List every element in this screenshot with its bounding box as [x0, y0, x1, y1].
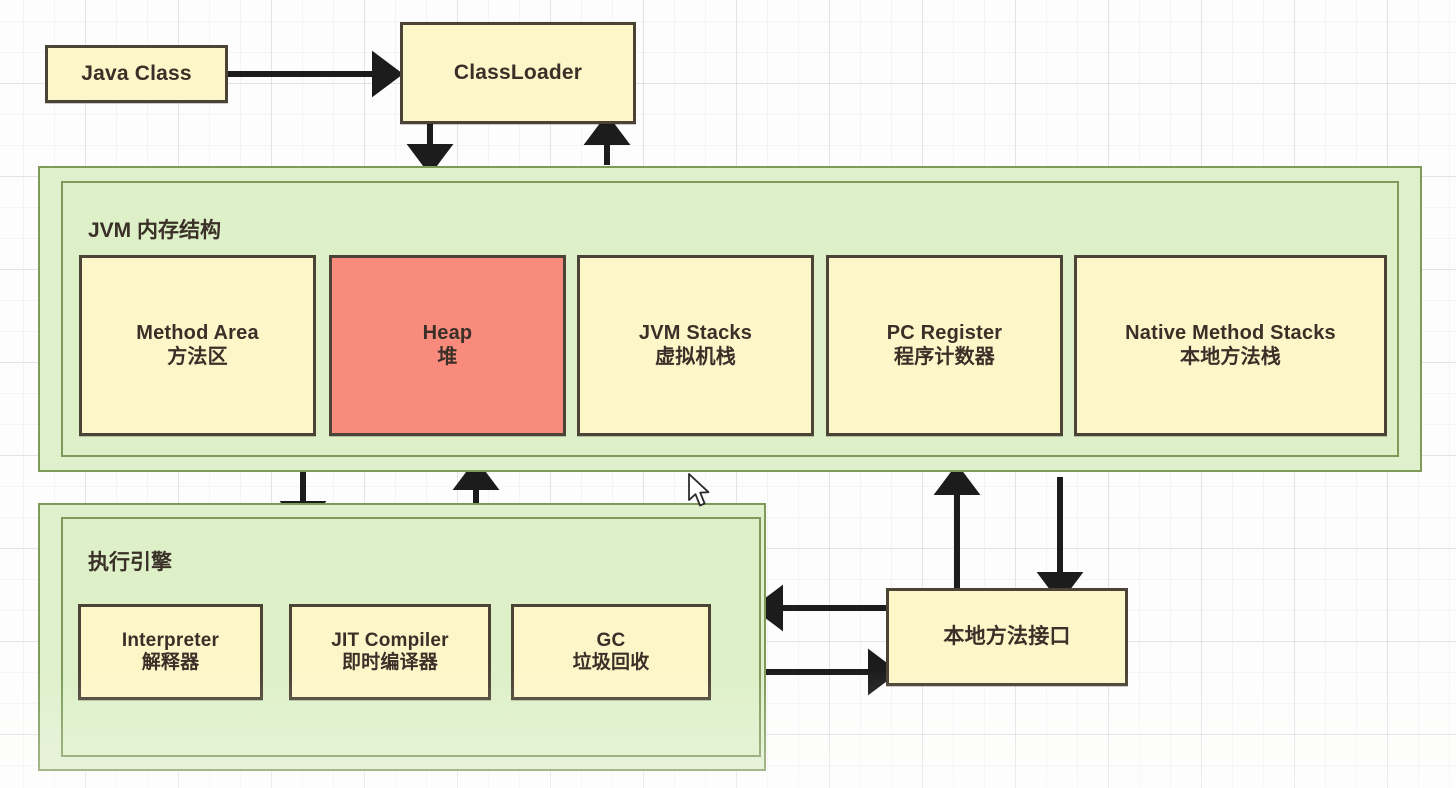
memory-box-jvm-stacks[interactable]: JVM Stacks 虚拟机栈: [577, 255, 814, 436]
gc-en: GC: [597, 630, 626, 652]
pc-register-cn: 程序计数器: [894, 345, 995, 369]
engine-box-gc[interactable]: GC 垃圾回收: [511, 604, 711, 700]
gc-cn: 垃圾回收: [573, 652, 650, 675]
heap-cn: 堆: [437, 345, 457, 369]
jit-compiler-cn: 即时编译器: [342, 652, 438, 675]
memory-box-pc-register[interactable]: PC Register 程序计数器: [826, 255, 1063, 436]
interpreter-cn: 解释器: [142, 652, 200, 675]
jvm-memory-title: JVM 内存结构: [88, 214, 221, 244]
jvm-stacks-en: JVM Stacks: [639, 322, 752, 345]
native-method-stacks-cn: 本地方法栈: [1180, 345, 1281, 369]
pc-register-en: PC Register: [887, 322, 1003, 345]
method-area-en: Method Area: [136, 322, 259, 345]
execution-engine-title: 执行引擎: [88, 546, 172, 576]
engine-box-interpreter[interactable]: Interpreter 解释器: [78, 604, 263, 700]
interpreter-en: Interpreter: [122, 630, 219, 652]
memory-box-native-method-stacks[interactable]: Native Method Stacks 本地方法栈: [1074, 255, 1387, 436]
jvm-architecture-diagram: Java Class ClassLoader JVM 内存结构 Method A…: [0, 0, 1456, 788]
memory-box-method-area[interactable]: Method Area 方法区: [79, 255, 316, 436]
jvm-stacks-cn: 虚拟机栈: [655, 345, 736, 369]
native-method-interface-label: 本地方法接口: [943, 624, 1070, 649]
method-area-cn: 方法区: [167, 345, 228, 369]
node-class-loader[interactable]: ClassLoader: [400, 22, 636, 124]
jit-compiler-en: JIT Compiler: [331, 630, 448, 652]
heap-en: Heap: [423, 322, 473, 345]
engine-box-jit-compiler[interactable]: JIT Compiler 即时编译器: [289, 604, 491, 700]
native-method-stacks-en: Native Method Stacks: [1125, 322, 1336, 345]
node-native-method-interface[interactable]: 本地方法接口: [886, 588, 1128, 686]
java-class-label: Java Class: [81, 62, 192, 86]
memory-box-heap[interactable]: Heap 堆: [329, 255, 566, 436]
class-loader-label: ClassLoader: [454, 61, 582, 85]
node-java-class[interactable]: Java Class: [45, 45, 228, 103]
